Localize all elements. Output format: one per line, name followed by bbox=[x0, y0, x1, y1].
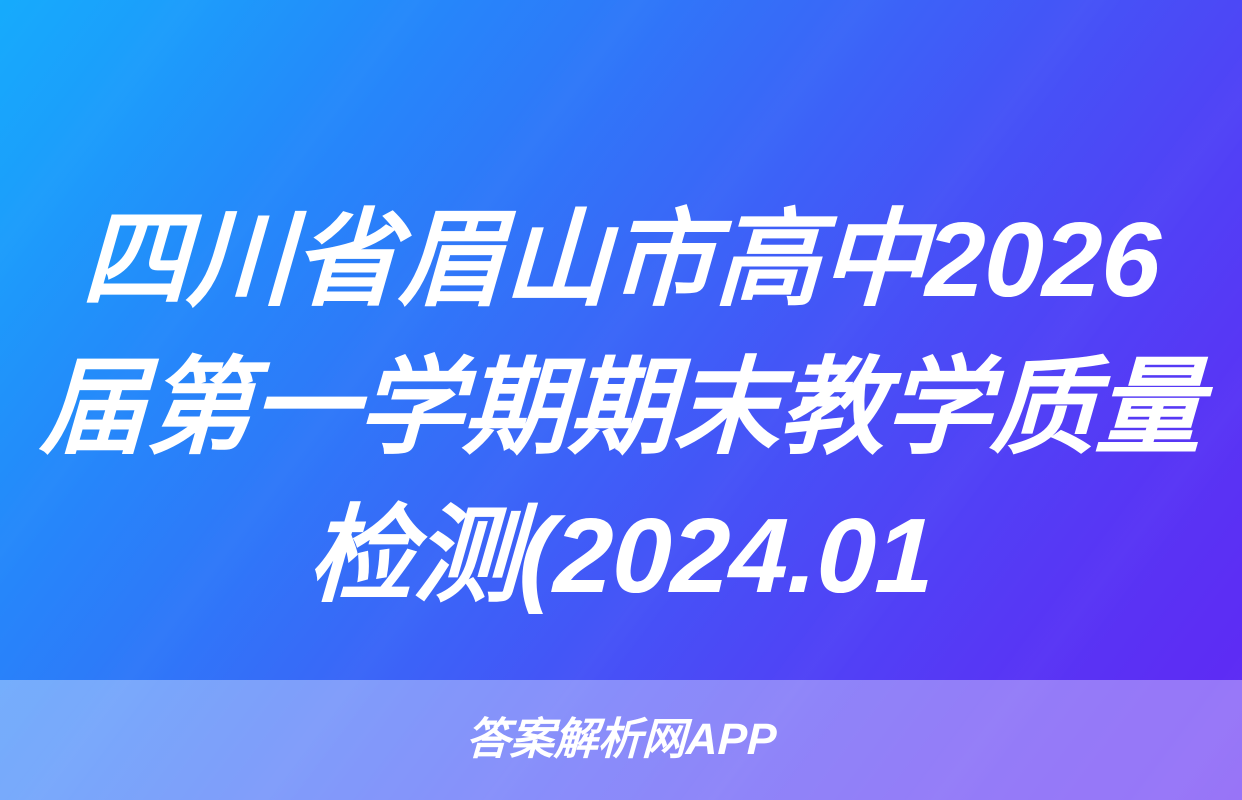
app-watermark-label: 答案解析网APP bbox=[465, 718, 777, 762]
title-line-2: 届第一学期期末教学质量 bbox=[0, 334, 1242, 482]
watermark-band: 答案解析网APP bbox=[0, 680, 1242, 800]
exam-cover-card: 四川省眉山市高中2026 届第一学期期末教学质量 检测(2024.01 答案解析… bbox=[0, 0, 1242, 800]
title-line-1: 四川省眉山市高中2026 bbox=[0, 186, 1242, 334]
title-line-3: 检测(2024.01 bbox=[0, 482, 1242, 630]
page-title: 四川省眉山市高中2026 届第一学期期末教学质量 检测(2024.01 bbox=[0, 186, 1242, 630]
